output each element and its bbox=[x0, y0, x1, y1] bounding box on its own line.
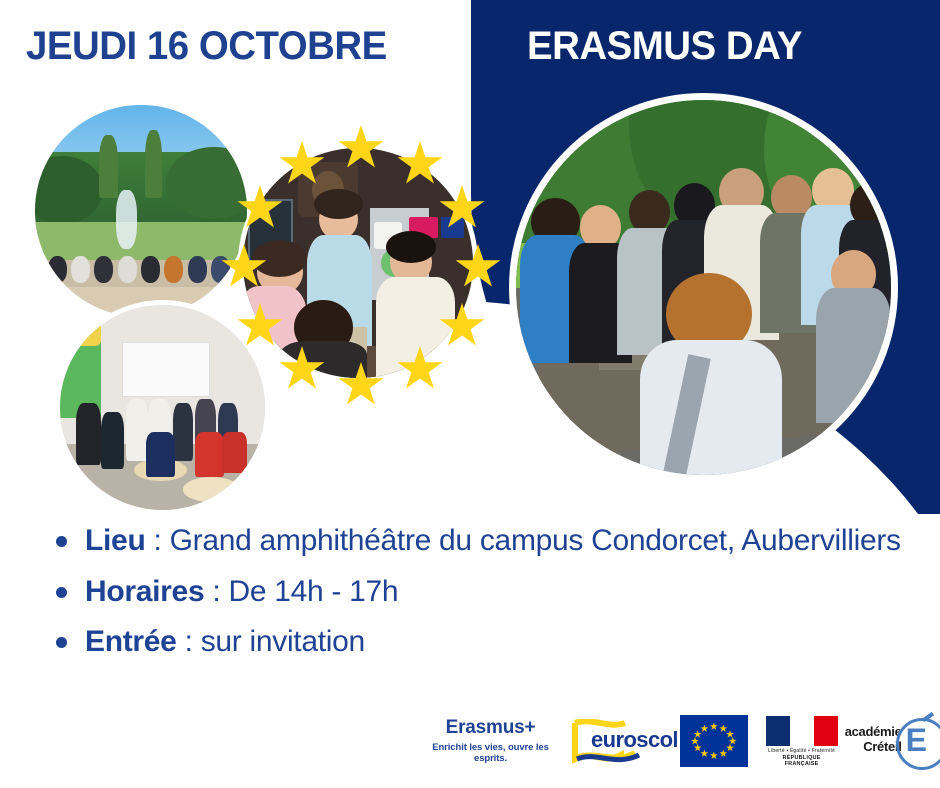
detail-value: De 14h - 17h bbox=[228, 575, 398, 608]
detail-separator: : bbox=[145, 524, 169, 557]
bullet-point-icon bbox=[56, 587, 67, 598]
republique-francaise-logo: Liberté • Égalité • Fraternité RÉPUBLIQU… bbox=[766, 716, 838, 767]
park-group-map-table-photo bbox=[516, 100, 891, 475]
bullet-point-icon bbox=[56, 536, 67, 547]
detail-entree: Entrée : sur invitation bbox=[85, 621, 365, 664]
erasmus-plus-logo: Erasmus+ Enrichit les vies, ouvre les es… bbox=[430, 718, 551, 764]
detail-label: Horaires bbox=[85, 575, 204, 608]
page-title-event: ERASMUS DAY bbox=[527, 24, 802, 69]
academie-line1: académie bbox=[844, 725, 902, 740]
list-item: Entrée : sur invitation bbox=[56, 621, 906, 664]
detail-separator: : bbox=[177, 625, 201, 658]
detail-value: Grand amphithéâtre du campus Condorcet, … bbox=[170, 524, 901, 557]
academie-line2: Créteil bbox=[844, 740, 902, 755]
rf-motto: Liberté • Égalité • Fraternité bbox=[766, 748, 838, 754]
detail-label: Entrée bbox=[85, 625, 177, 658]
erasmus-plus-name: Erasmus+ bbox=[430, 718, 551, 739]
detail-value: sur invitation bbox=[201, 625, 365, 658]
academie-creteil-wordmark: académie Créteil bbox=[844, 725, 902, 755]
erasmus-day-poster: JEUDI 16 OCTOBRE ERASMUS DAY bbox=[0, 0, 940, 788]
detail-label: Lieu bbox=[85, 524, 145, 557]
logo-strip: Erasmus+ Enrichit les vies, ouvre les es… bbox=[430, 712, 930, 770]
euroscol-wordmark: euroscol bbox=[591, 727, 678, 753]
academie-creteil-logo: académie Créteil E bbox=[844, 713, 930, 769]
french-flag-icon bbox=[766, 716, 838, 746]
page-title-date: JEUDI 16 OCTOBRE bbox=[26, 24, 387, 69]
academie-monogram: E bbox=[906, 724, 927, 756]
european-union-flag-icon bbox=[680, 715, 747, 767]
euroscol-logo: euroscol bbox=[567, 715, 662, 767]
detail-lieu: Lieu : Grand amphithéâtre du campus Cond… bbox=[85, 520, 901, 563]
stand-students-photo bbox=[243, 148, 473, 378]
event-details-list: Lieu : Grand amphithéâtre du campus Cond… bbox=[56, 520, 906, 672]
list-item: Horaires : De 14h - 17h bbox=[56, 571, 906, 614]
indoor-classroom-presentation-photo bbox=[60, 305, 265, 510]
list-item: Lieu : Grand amphithéâtre du campus Cond… bbox=[56, 520, 906, 563]
bullet-point-icon bbox=[56, 637, 67, 648]
rf-name: RÉPUBLIQUE FRANÇAISE bbox=[766, 755, 838, 767]
detail-separator: : bbox=[204, 575, 228, 608]
erasmus-plus-tagline: Enrichit les vies, ouvre les esprits. bbox=[430, 742, 551, 764]
detail-horaires: Horaires : De 14h - 17h bbox=[85, 571, 398, 614]
garden-fountain-group-photo bbox=[35, 105, 247, 317]
